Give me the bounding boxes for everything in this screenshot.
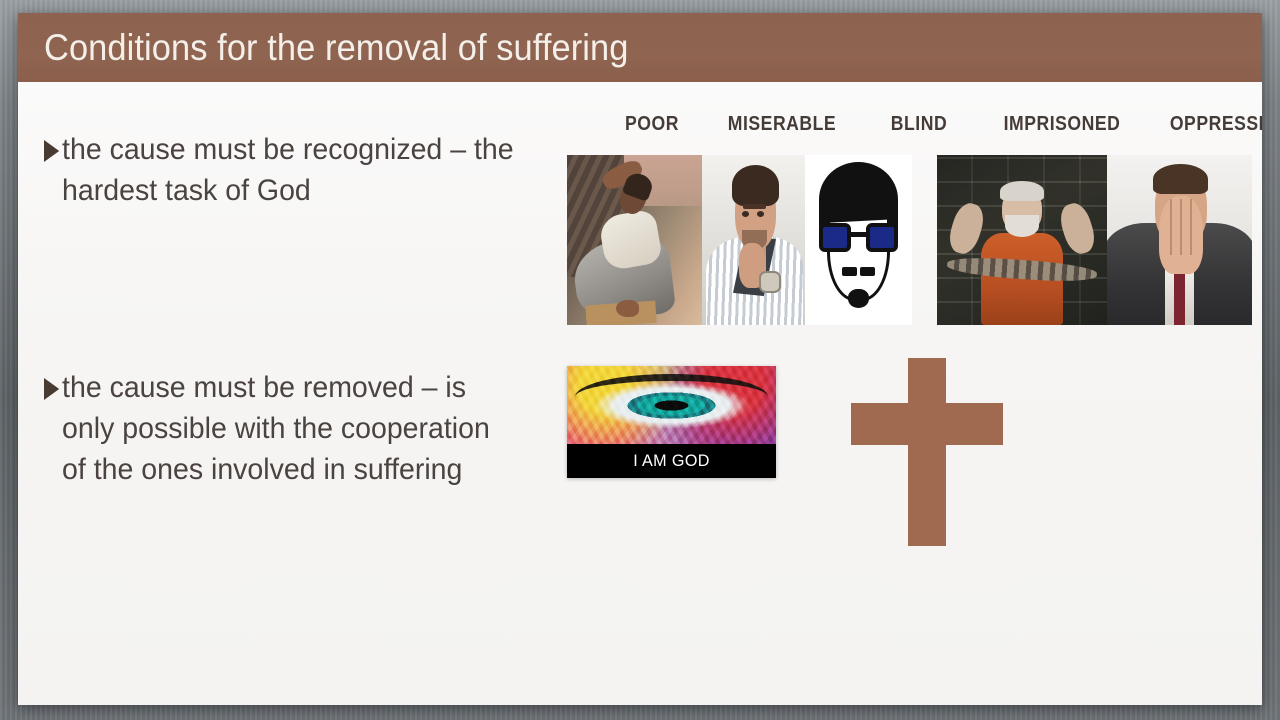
cross-vertical-bar [908,358,946,546]
i-am-god-caption: I AM GOD [572,444,771,478]
image-poor-man [567,155,702,325]
category-photo-strip [567,155,1253,325]
category-label-imprisoned: IMPRISONED [956,113,1167,136]
eyelash-icon [575,374,767,397]
slide: Conditions for the removal of suffering … [18,13,1262,705]
figure-area: POOR MISERABLE BLIND IMPRISONED OPPRESSE… [18,82,1262,705]
page-title: Conditions for the removal of suffering [44,27,628,69]
eye-image [567,366,776,444]
sunglasses-icon [819,223,898,252]
category-label-miserable: MISERABLE [703,113,861,136]
image-man-covering-face [1107,155,1252,325]
slide-body: the cause must be recognized – the harde… [18,82,1262,705]
i-am-god-card: I AM GOD [567,366,776,478]
image-chained-prisoner [937,155,1107,325]
slide-title-bar: Conditions for the removal of suffering [18,13,1262,82]
image-pensive-man [702,155,805,325]
category-label-poor: POOR [599,113,705,136]
category-label-oppressed: OPPRESSED [1139,113,1262,136]
cross-icon [851,358,1003,546]
image-blind-face-icon [805,155,912,325]
cross-horizontal-bar [851,403,1003,445]
category-label-row: POOR MISERABLE BLIND IMPRISONED OPPRESSE… [567,113,1257,141]
